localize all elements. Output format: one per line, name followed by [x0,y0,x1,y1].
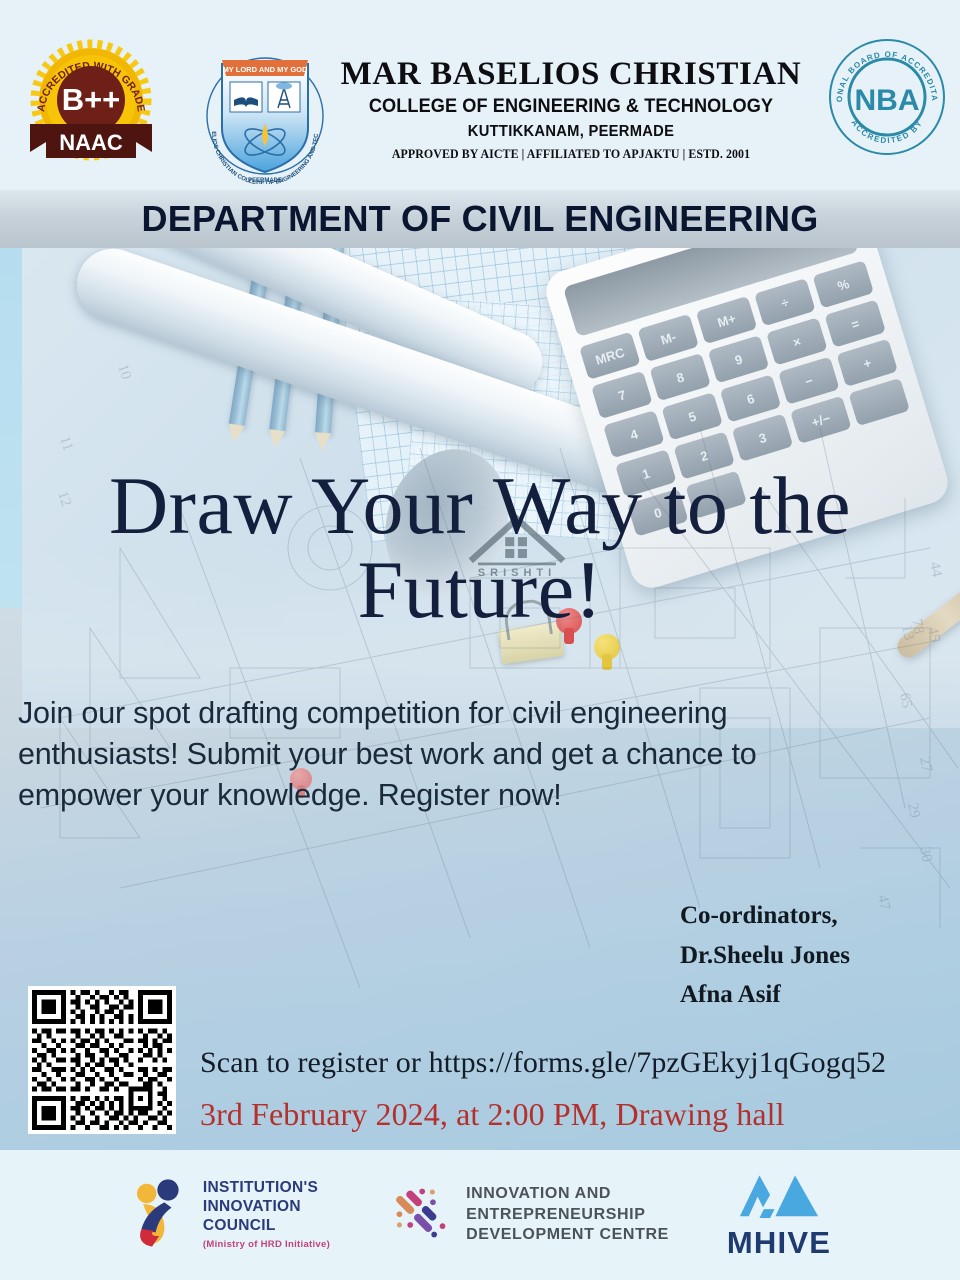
iic-line-2: INNOVATION [203,1198,301,1215]
department-title: DEPARTMENT OF CIVIL ENGINEERING [142,198,819,240]
mhive-logo-block: MHIVE [727,1170,831,1261]
poster-footer: INSTITUTION'S INNOVATION COUNCIL (Minist… [0,1150,960,1280]
naac-ribbon-text: NAAC [59,130,123,155]
department-banner: DEPARTMENT OF CIVIL ENGINEERING [0,190,960,248]
calculator-key: M- [637,314,699,362]
naac-grade-text: B++ [62,82,121,117]
college-location: KUTTIKKANAM, PEERMADE [348,123,795,141]
calculator-key: 5 [661,392,723,440]
calculator-key: − [778,356,840,404]
calculator-key: + [836,339,898,387]
calculator-key: 3 [732,414,794,462]
iic-line-3: COUNCIL [203,1217,276,1234]
calculator-key: MRC [579,332,641,380]
calculator-key [848,378,910,426]
iedc-emblem-icon [388,1180,454,1251]
college-crest-logo: MAR BASELIOS CHRISTIAN COLLEGE OF ENGINE… [200,46,330,184]
iedc-line-2: ENTREPRENEURSHIP [466,1206,645,1223]
calculator-key: × [766,317,828,365]
iic-line-1: INSTITUTION'S [203,1179,318,1196]
naac-accreditation-badge: ACCREDITED WITH GRADE B++ NAAC [16,38,166,168]
coordinator-name-1: Dr.Sheelu Jones [680,936,950,976]
college-subtitle: COLLEGE OF ENGINEERING & TECHNOLOGY [352,95,789,118]
iedc-line-1: INNOVATION AND [466,1185,611,1202]
iic-emblem-icon [129,1177,191,1254]
iedc-wordmark: INNOVATION AND ENTREPRENEURSHIP DEVELOPM… [466,1184,669,1245]
iic-ministry-note: (Ministry of HRD Initiative) [203,1239,330,1251]
registration-qr-code[interactable] [28,986,176,1134]
calculator-key: +/− [790,396,852,444]
crest-banner-text: MY LORD AND MY GOD [223,65,308,74]
registration-link-text[interactable]: Scan to register or https://forms.gle/7p… [200,1046,960,1080]
mhive-wordmark: MHIVE [727,1225,831,1261]
iic-wordmark: INSTITUTION'S INNOVATION COUNCIL (Minist… [203,1179,330,1250]
calculator-key: 8 [649,353,711,401]
crest-ring-bottom-text: PEERMADE [248,178,282,184]
coordinators-block: Co-ordinators, Dr.Sheelu Jones Afna Asif [680,896,950,1015]
poster-headline: Draw Your Way to the Future! [0,466,960,631]
pushpin-icon [594,634,620,660]
calculator-key: M+ [696,296,758,344]
calculator-key: 4 [603,410,665,458]
headline-line-1: Draw Your Way to the [109,460,851,551]
event-description: Join our spot drafting competition for c… [18,693,868,817]
nba-arc-bottom-text: ACCREDITED BY [849,118,924,145]
svg-text:30: 30 [916,846,935,864]
event-datetime-venue: 3rd February 2024, at 2:00 PM, Drawing h… [200,1096,960,1133]
mhive-emblem-icon [736,1170,822,1223]
coordinator-name-2: Afna Asif [680,975,950,1015]
svg-text:29: 29 [904,802,923,820]
calculator-key: = [824,299,886,347]
poster-header: ACCREDITED WITH GRADE B++ NAAC [0,0,960,190]
event-poster: ACCREDITED WITH GRADE B++ NAAC [0,0,960,1280]
college-name: MAR BASELIOS CHRISTIAN [336,58,806,92]
poster-body: MRC M- M+ ÷ % 7 8 9 × = 4 5 6 − + 1 2 [0,248,960,1150]
calculator-key: 7 [591,371,653,419]
nba-accreditation-badge: NATIONAL BOARD OF ACCREDITATION ACCREDIT… [828,38,946,156]
college-wordmark: MAR BASELIOS CHRISTIAN COLLEGE OF ENGINE… [336,58,806,162]
calculator-key: 9 [708,335,770,383]
college-approval: APPROVED BY AICTE | AFFILIATED TO APJAKT… [345,147,796,162]
headline-line-2: Future! [0,550,960,630]
calculator-key: % [812,260,874,308]
svg-text:ACCREDITED BY: ACCREDITED BY [849,118,924,145]
nba-mark-text: NBA [855,84,920,117]
svg-text:27: 27 [916,756,935,774]
iedc-logo-block: INNOVATION AND ENTREPRENEURSHIP DEVELOPM… [388,1180,669,1251]
iedc-line-3: DEVELOPMENT CENTRE [466,1226,669,1243]
iic-logo-block: INSTITUTION'S INNOVATION COUNCIL (Minist… [129,1177,330,1254]
calculator-key: 6 [720,374,782,422]
coordinators-heading: Co-ordinators, [680,896,950,936]
calculator-key: ÷ [754,278,816,326]
